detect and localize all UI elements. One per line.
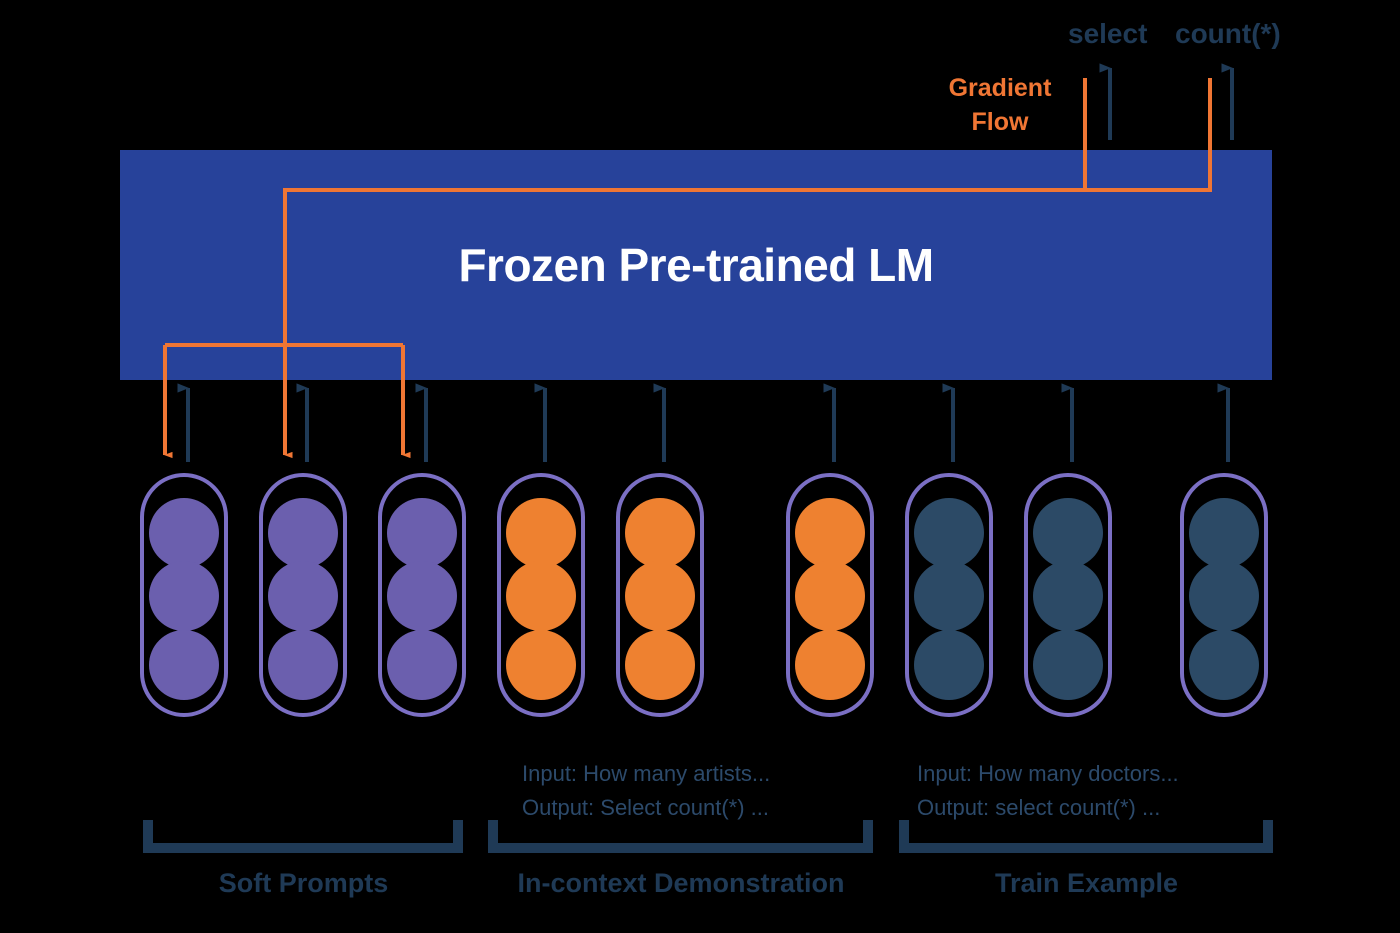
group-bracket-layer [0,0,1400,933]
group-label-soft-prompts: Soft Prompts [146,868,461,899]
bracket-train-example [904,820,1268,848]
bracket-in-context-demonstration [493,820,868,848]
bracket-soft-prompts [148,820,458,848]
group-label-in-context-demonstration: In-context Demonstration [490,868,872,899]
diagram-canvas: Frozen Pre-trained LM select count(*) Gr… [0,0,1400,933]
group-label-train-example: Train Example [901,868,1272,899]
